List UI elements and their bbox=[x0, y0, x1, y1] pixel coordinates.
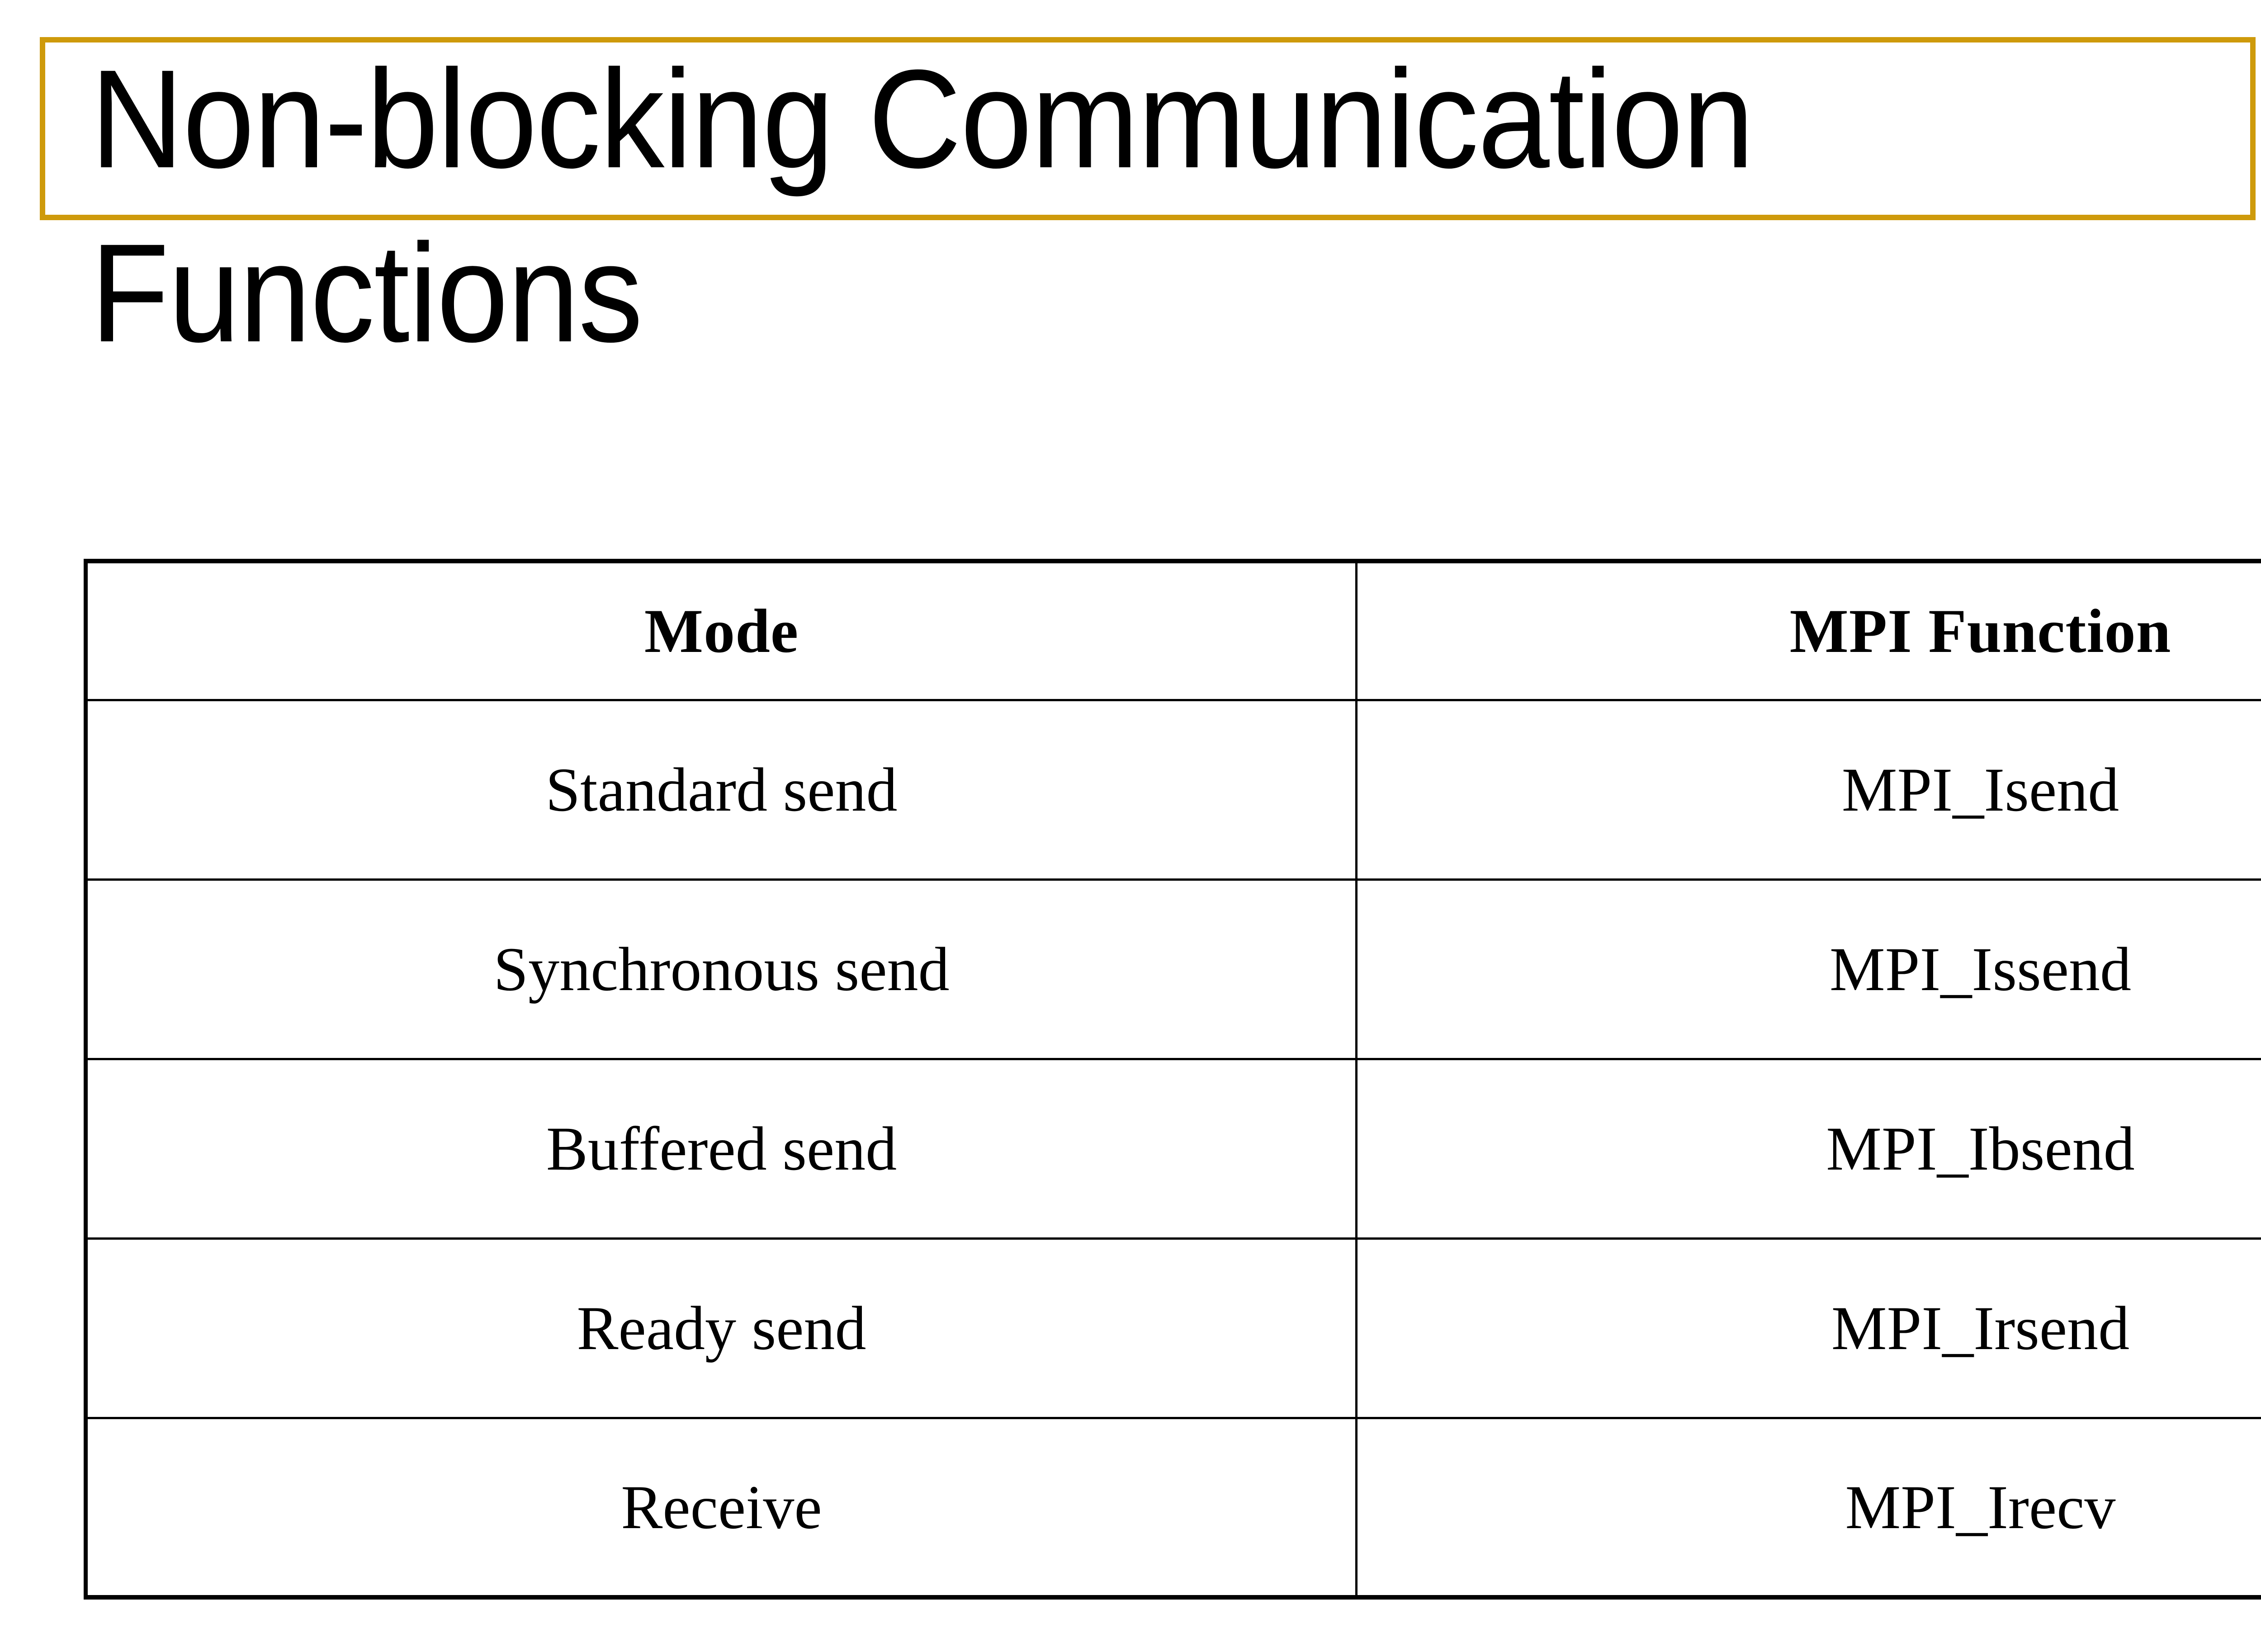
table-header-row: Mode MPI Function bbox=[86, 561, 2261, 700]
table-row: Buffered send MPI_Ibsend bbox=[86, 1059, 2261, 1238]
cell-mode: Standard send bbox=[86, 700, 1357, 879]
cell-mode: Synchronous send bbox=[86, 879, 1357, 1059]
table-head: Mode MPI Function bbox=[86, 561, 2261, 700]
cell-mode: Ready send bbox=[86, 1238, 1357, 1418]
table-row: Standard send MPI_Isend bbox=[86, 700, 2261, 879]
slide-canvas: Non-blocking Communication Functions Mod… bbox=[0, 0, 2261, 1652]
table-row: Ready send MPI_Irsend bbox=[86, 1238, 2261, 1418]
cell-mpi-function: MPI_Irsend bbox=[1357, 1238, 2261, 1418]
cell-mpi-function: MPI_Irecv bbox=[1357, 1418, 2261, 1597]
column-header-mode: Mode bbox=[86, 561, 1357, 700]
column-header-mpi-function: MPI Function bbox=[1357, 561, 2261, 700]
non-blocking-functions-table: Mode MPI Function Standard send MPI_Isen… bbox=[84, 559, 2261, 1600]
cell-mode: Receive bbox=[86, 1418, 1357, 1597]
cell-mpi-function: MPI_Ibsend bbox=[1357, 1059, 2261, 1238]
slide-title-block: Non-blocking Communication Functions bbox=[0, 0, 2261, 452]
cell-mode: Buffered send bbox=[86, 1059, 1357, 1238]
cell-mpi-function: MPI_Isend bbox=[1357, 700, 2261, 879]
table-row: Receive MPI_Irecv bbox=[86, 1418, 2261, 1597]
cell-mpi-function: MPI_Issend bbox=[1357, 879, 2261, 1059]
table-row: Synchronous send MPI_Issend bbox=[86, 879, 2261, 1059]
page-title: Non-blocking Communication Functions bbox=[90, 32, 2171, 380]
table-body: Standard send MPI_Isend Synchronous send… bbox=[86, 700, 2261, 1597]
